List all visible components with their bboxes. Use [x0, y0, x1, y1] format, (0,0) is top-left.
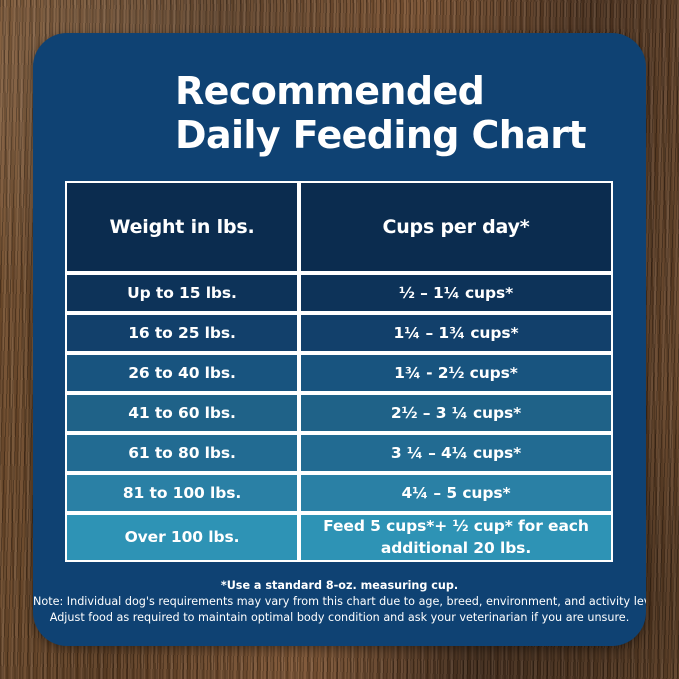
footnote-note: Note: Individual dog's requirements may … [33, 594, 646, 610]
cell-cups: ½ – 1¼ cups* [299, 273, 613, 313]
table-row: 81 to 100 lbs. 4¼ – 5 cups* [65, 473, 613, 513]
column-header-cups: Cups per day* [299, 181, 613, 273]
footnote-measuring-cup: *Use a standard 8-oz. measuring cup. [33, 578, 646, 594]
page-title-line-2: Daily Feeding Chart [175, 113, 646, 157]
cell-cups: 3 ¼ – 4¼ cups* [299, 433, 613, 473]
cell-cups: 1¾ - 2½ cups* [299, 353, 613, 393]
footnote-adjust: Adjust food as required to maintain opti… [33, 610, 646, 626]
table-row: 26 to 40 lbs. 1¾ - 2½ cups* [65, 353, 613, 393]
table-header: Weight in lbs. Cups per day* [65, 181, 613, 273]
table-row: 16 to 25 lbs. 1¼ – 1¾ cups* [65, 313, 613, 353]
cell-weight: 61 to 80 lbs. [65, 433, 299, 473]
table-row: Up to 15 lbs. ½ – 1¼ cups* [65, 273, 613, 313]
cell-weight: 41 to 60 lbs. [65, 393, 299, 433]
table-row: 41 to 60 lbs. 2½ – 3 ¼ cups* [65, 393, 613, 433]
cell-weight: Over 100 lbs. [65, 513, 299, 562]
cell-cups: 1¼ – 1¾ cups* [299, 313, 613, 353]
cell-cups: Feed 5 cups*+ ½ cup* for each additional… [299, 513, 613, 562]
cell-weight: 81 to 100 lbs. [65, 473, 299, 513]
table-row: 61 to 80 lbs. 3 ¼ – 4¼ cups* [65, 433, 613, 473]
cell-weight: 26 to 40 lbs. [65, 353, 299, 393]
cell-weight: Up to 15 lbs. [65, 273, 299, 313]
page-title-line-1: Recommended [175, 69, 646, 113]
cell-weight: 16 to 25 lbs. [65, 313, 299, 353]
table-row: Over 100 lbs. Feed 5 cups*+ ½ cup* for e… [65, 513, 613, 562]
feeding-chart-card: Recommended Daily Feeding Chart Weight i… [33, 33, 646, 646]
table-header-row: Weight in lbs. Cups per day* [65, 181, 613, 273]
page-title: Recommended Daily Feeding Chart [33, 33, 646, 157]
cell-cups: 4¼ – 5 cups* [299, 473, 613, 513]
cell-cups: 2½ – 3 ¼ cups* [299, 393, 613, 433]
table-body: Up to 15 lbs. ½ – 1¼ cups* 16 to 25 lbs.… [65, 273, 613, 562]
column-header-weight: Weight in lbs. [65, 181, 299, 273]
footnotes: *Use a standard 8-oz. measuring cup. Not… [33, 578, 646, 627]
feeding-table: Weight in lbs. Cups per day* Up to 15 lb… [65, 181, 613, 562]
